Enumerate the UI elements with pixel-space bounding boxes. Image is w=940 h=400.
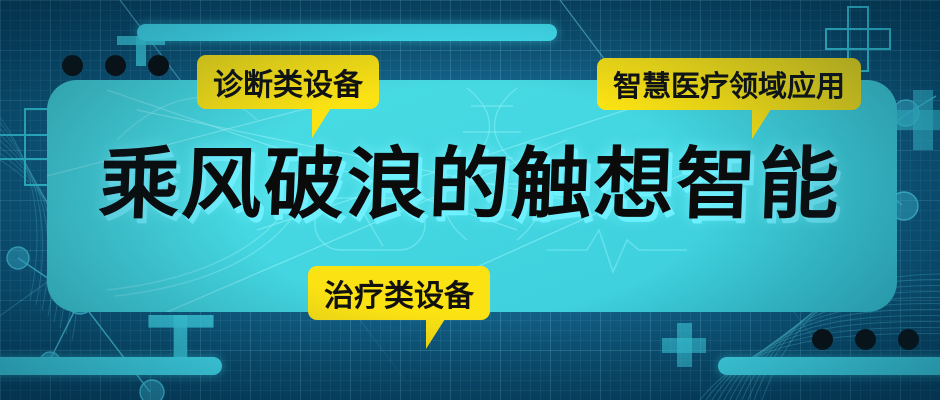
promo-banner: 乘风破浪的触想智能 诊断类设备 智慧医疗领域应用 治疗类设备 [0, 0, 940, 400]
vignette-overlay [0, 0, 940, 400]
